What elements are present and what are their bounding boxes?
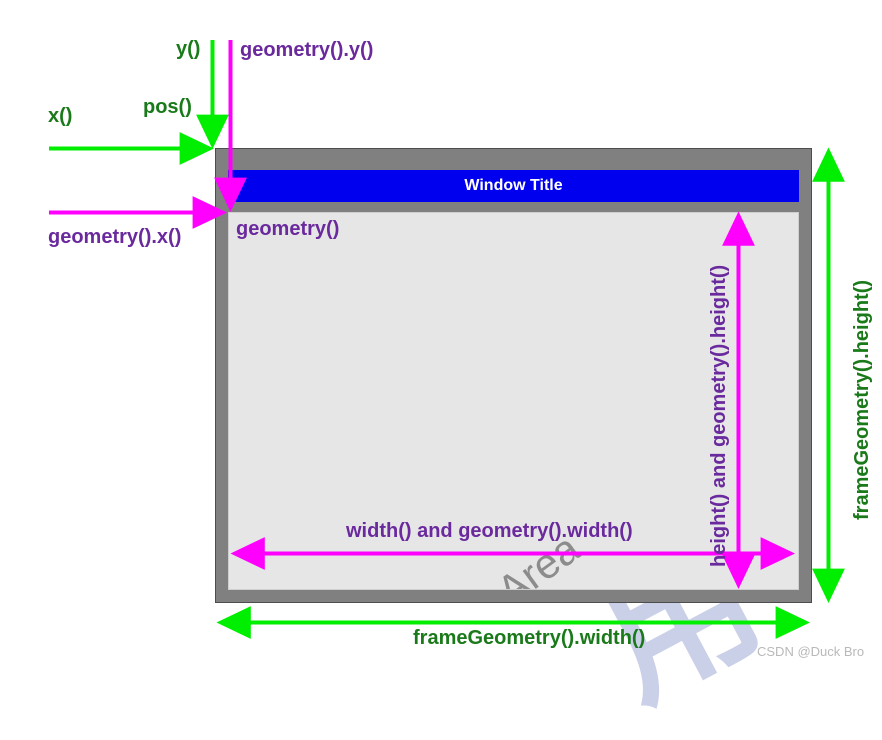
label-x: x() <box>48 106 72 126</box>
label-height-and-geometry-height: height() and geometry().height() <box>709 265 729 567</box>
label-frame-geometry-height: frameGeometry().height() <box>852 280 872 520</box>
diagram-canvas: 用 Window Title Client Area <box>0 0 882 667</box>
label-geometry-y: geometry().y() <box>240 40 373 60</box>
label-y: y() <box>176 39 200 59</box>
arrow-overlay <box>0 0 882 667</box>
label-geometry: geometry() <box>236 219 339 239</box>
label-pos: pos() <box>143 97 192 117</box>
label-width-and-geometry-width: width() and geometry().width() <box>346 521 633 541</box>
label-frame-geometry-width: frameGeometry().width() <box>413 628 645 648</box>
label-geometry-x: geometry().x() <box>48 227 181 247</box>
watermark-credit: CSDN @Duck Bro <box>757 644 864 659</box>
